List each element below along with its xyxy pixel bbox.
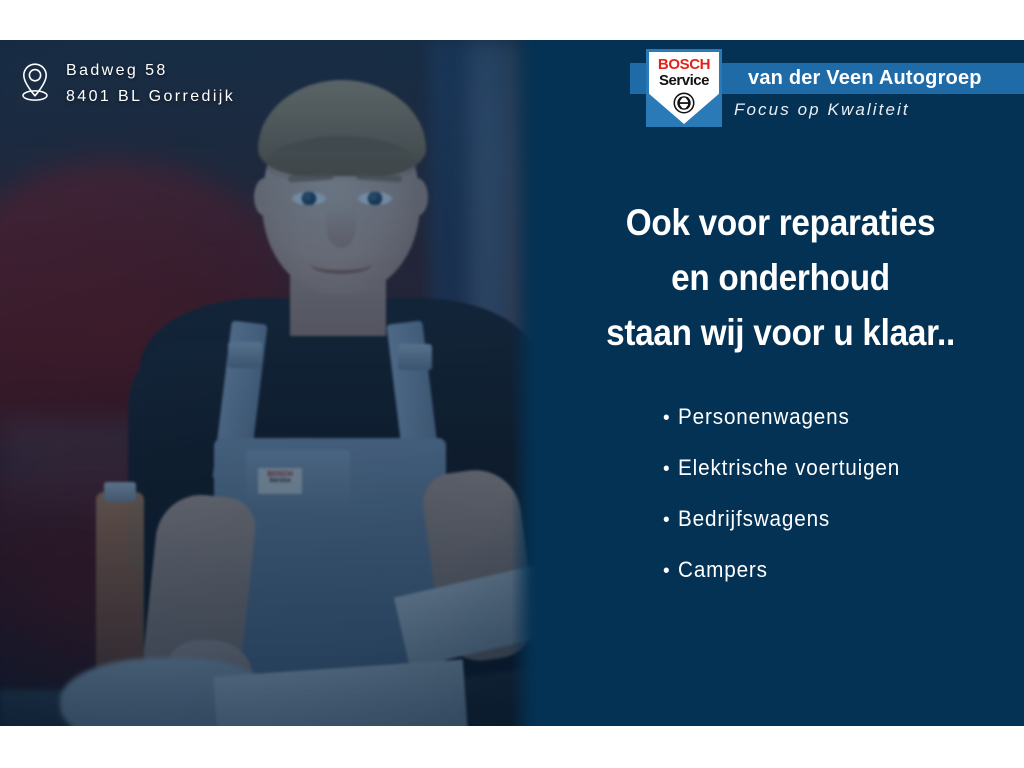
list-item: •Elektrische voertuigen	[663, 443, 900, 494]
headline-line-3: staan wij voor u klaar..	[561, 305, 999, 360]
services-list: •Personenwagens •Elektrische voertuigen …	[663, 392, 915, 596]
company-tagline: Focus op Kwaliteit	[734, 100, 910, 120]
promo-banner: BOSCHService Badweg 58	[0, 40, 1024, 726]
service-label: Personenwagens	[678, 404, 850, 429]
bosch-service-logo[interactable]: BOSCH Service	[646, 49, 722, 127]
photo-vignette	[0, 40, 537, 726]
headline-line-2: en onderhoud	[561, 250, 999, 305]
address-line-2: 8401 BL Gorredijk	[66, 84, 235, 110]
bullet-icon: •	[663, 496, 678, 545]
service-label: Elektrische voertuigen	[678, 455, 900, 480]
info-panel: BOSCH Service van der Veen Autogroep Foc…	[537, 40, 1024, 726]
service-label: Bedrijfswagens	[678, 506, 830, 531]
headline: Ook voor reparaties en onderhoud staan w…	[561, 195, 999, 360]
list-item: •Bedrijfswagens	[663, 494, 900, 545]
headline-line-1: Ook voor reparaties	[561, 195, 999, 250]
list-item: •Personenwagens	[663, 392, 900, 443]
workshop-photo: BOSCHService Badweg 58	[0, 40, 537, 726]
address-block: Badweg 58 8401 BL Gorredijk	[18, 58, 235, 110]
company-name: van der Veen Autogroep	[748, 67, 982, 90]
address-line-1: Badweg 58	[66, 58, 235, 84]
bosch-wordmark: BOSCH	[649, 57, 719, 72]
bullet-icon: •	[663, 445, 678, 494]
bullet-icon: •	[663, 547, 678, 596]
bullet-icon: •	[663, 394, 678, 443]
address-text: Badweg 58 8401 BL Gorredijk	[66, 58, 235, 110]
list-item: •Campers	[663, 545, 900, 596]
bosch-shield-shape: BOSCH Service	[649, 52, 719, 124]
location-pin-icon	[18, 62, 52, 107]
bosch-service-label: Service	[649, 73, 719, 88]
bosch-armature-icon	[673, 92, 695, 119]
service-label: Campers	[678, 557, 768, 582]
photo-panel-seam	[511, 40, 537, 726]
